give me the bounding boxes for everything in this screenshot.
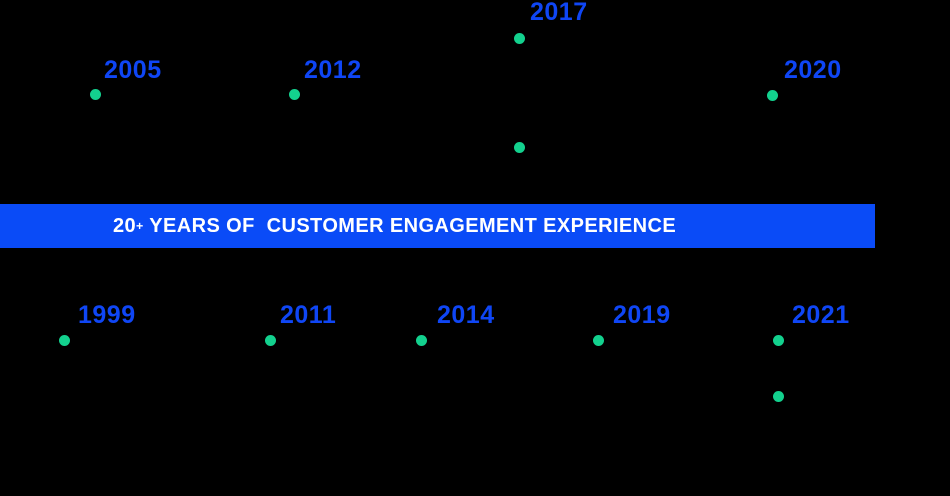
- milestone-dot-2017-2: [514, 142, 525, 153]
- year-label-2021: 2021: [792, 303, 850, 328]
- milestone-dot-2011: [265, 335, 276, 346]
- year-label-2005: 2005: [104, 58, 162, 83]
- year-label-2019: 2019: [613, 303, 671, 328]
- milestone-dot-2020: [767, 90, 778, 101]
- year-label-2011: 2011: [280, 303, 336, 328]
- milestone-dot-2005: [90, 89, 101, 100]
- milestone-dot-2012: [289, 89, 300, 100]
- experience-banner-text: 20+ YEARS OF CUSTOMER ENGAGEMENT EXPERIE…: [113, 204, 676, 248]
- milestone-dot-1999: [59, 335, 70, 346]
- milestone-dot-2017-1: [514, 33, 525, 44]
- milestone-dot-2019: [593, 335, 604, 346]
- year-label-1999: 1999: [78, 303, 136, 328]
- milestone-dot-2021-1: [773, 335, 784, 346]
- experience-banner: 20+ YEARS OF CUSTOMER ENGAGEMENT EXPERIE…: [0, 204, 875, 248]
- banner-phrase: YEARS OF CUSTOMER ENGAGEMENT EXPERIENCE: [144, 215, 676, 238]
- year-label-2020: 2020: [784, 58, 842, 83]
- year-label-2014: 2014: [437, 303, 495, 328]
- milestone-dot-2014: [416, 335, 427, 346]
- timeline-infographic: 2005201220172020 19992011201420192021 20…: [0, 0, 950, 496]
- year-label-2012: 2012: [304, 58, 362, 83]
- milestone-dot-2021-2: [773, 391, 784, 402]
- year-label-2017: 2017: [530, 0, 588, 25]
- banner-years-number: 20: [113, 215, 136, 238]
